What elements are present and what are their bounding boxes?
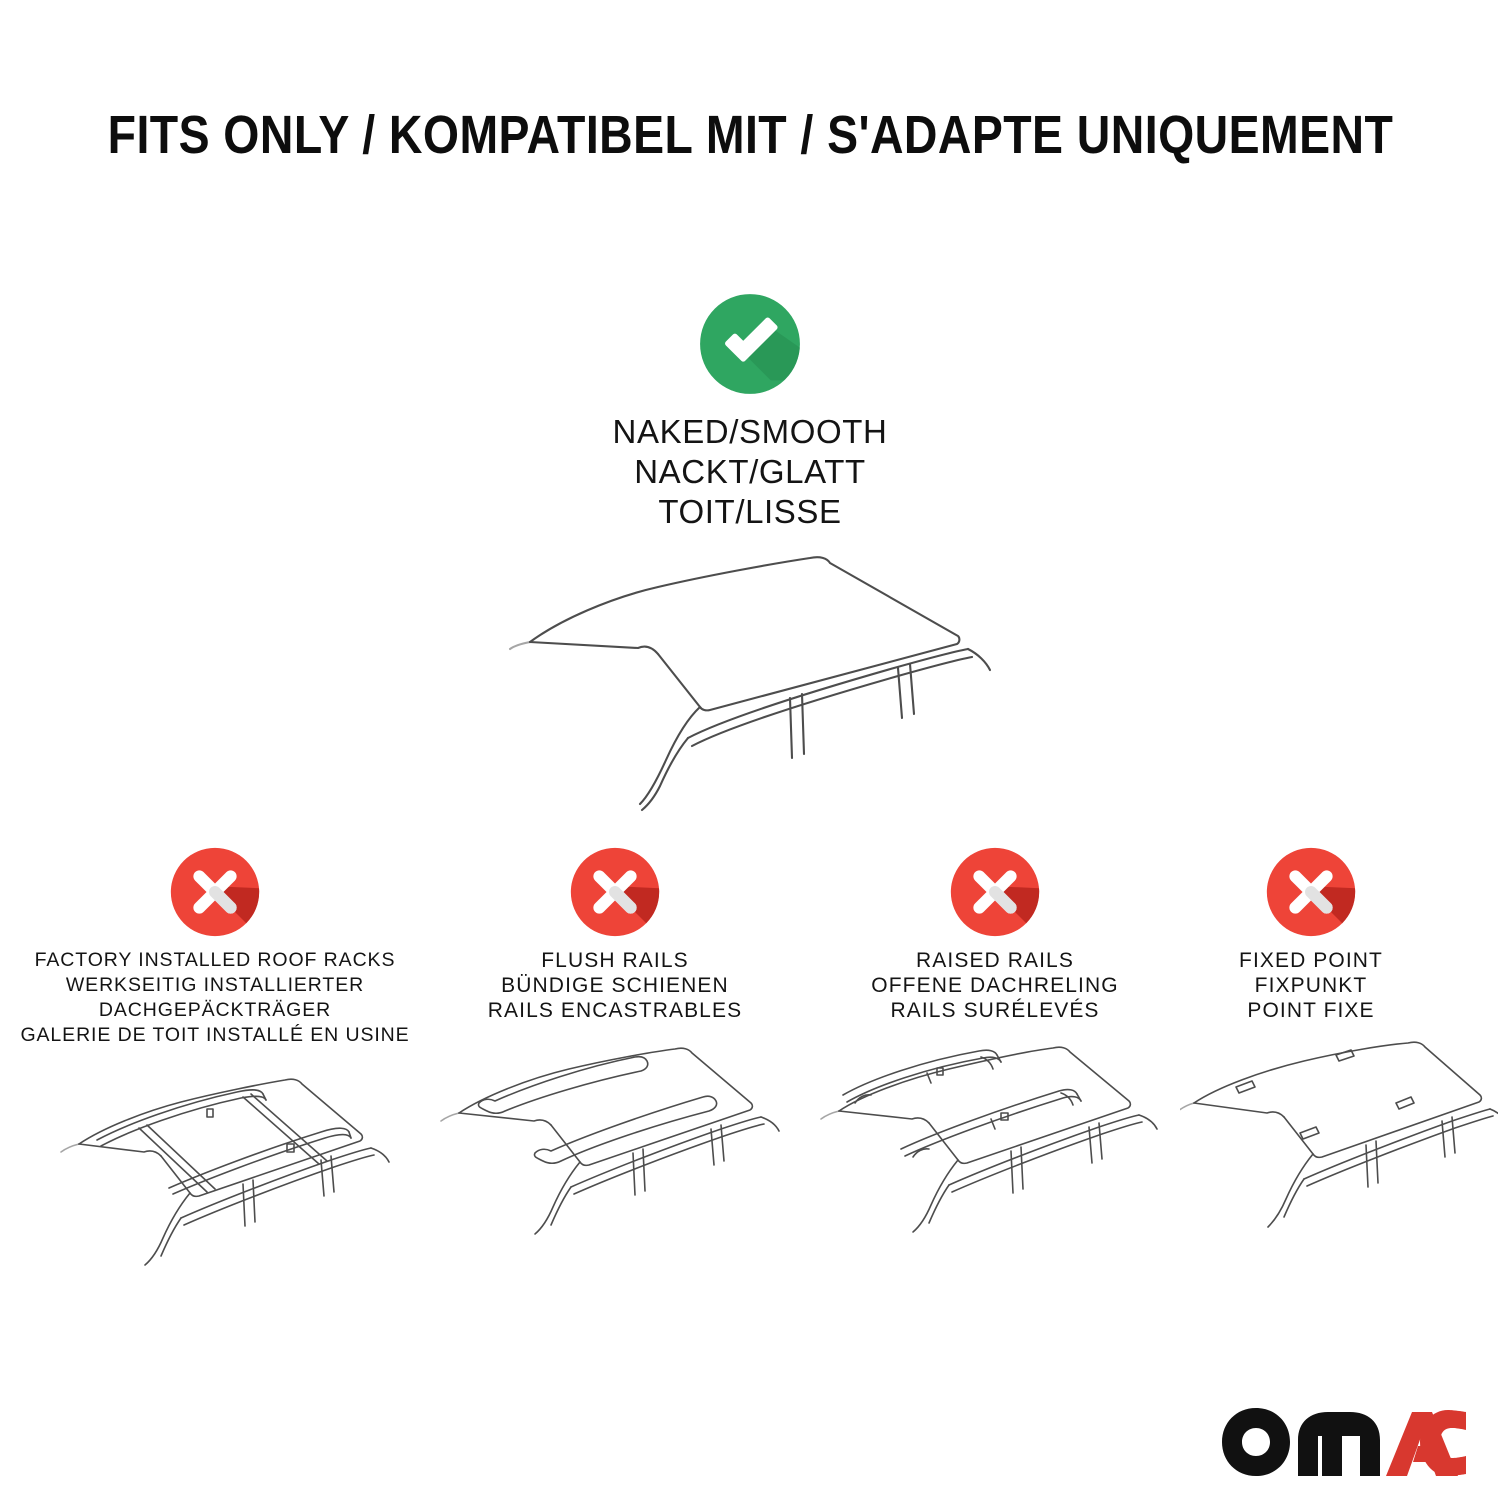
omac-logo: OMAC: [1220, 1406, 1466, 1478]
cross-circle-icon: [569, 846, 661, 938]
compatible-caption-line-2: NACKT/GLATT: [0, 452, 1500, 492]
caption-line-1: FLUSH RAILS: [432, 948, 798, 973]
flush-rails-illustration: [435, 1041, 795, 1241]
factory-roof-rack-illustration: [31, 1066, 399, 1266]
compatible-caption-line-1: NAKED/SMOOTH: [0, 412, 1500, 452]
caption-line-3: RAILS ENCASTRABLES: [432, 998, 798, 1023]
incompatible-section: FACTORY INSTALLED ROOF RACKS WERKSEITIG …: [0, 846, 1500, 1276]
page-title: FITS ONLY / KOMPATIBEL MIT / S'ADAPTE UN…: [107, 104, 1393, 166]
incompatible-caption-raised-rails: RAISED RAILS OFFENE DACHRELING RAILS SUR…: [812, 948, 1178, 1023]
caption-line-3: DACHGEPÄCKTRÄGER: [20, 998, 410, 1023]
incompatible-caption-factory-installed-roof-racks: FACTORY INSTALLED ROOF RACKS WERKSEITIG …: [20, 948, 410, 1048]
cross-circle-icon: [1265, 846, 1357, 938]
fixed-point-illustration: [1180, 1041, 1498, 1241]
caption-line-3: POINT FIXE: [1180, 998, 1442, 1023]
incompatible-item-fixed-point: FIXED POINT FIXPUNKT POINT FIXE: [1180, 846, 1442, 1241]
compatible-caption-line-3: TOIT/LISSE: [0, 492, 1500, 532]
incompatible-item-flush-rails: FLUSH RAILS BÜNDIGE SCHIENEN RAILS ENCAS…: [432, 846, 798, 1241]
check-circle-icon: [698, 292, 802, 396]
caption-line-2: OFFENE DACHRELING: [812, 973, 1178, 998]
omac-logo-mark: [1220, 1406, 1466, 1478]
page-title-bar: FITS ONLY / KOMPATIBEL MIT / S'ADAPTE UN…: [0, 104, 1500, 166]
caption-line-2: FIXPUNKT: [1180, 973, 1442, 998]
caption-line-4: GALERIE DE TOIT INSTALLÉ EN USINE: [20, 1023, 410, 1048]
caption-line-2: BÜNDIGE SCHIENEN: [432, 973, 798, 998]
caption-line-1: FIXED POINT: [1180, 948, 1442, 973]
caption-line-1: FACTORY INSTALLED ROOF RACKS: [20, 948, 410, 973]
raised-rails-illustration: [815, 1041, 1175, 1241]
compatible-caption: NAKED/SMOOTH NACKT/GLATT TOIT/LISSE: [0, 412, 1500, 532]
cross-circle-icon: [169, 846, 261, 938]
compatible-section: NAKED/SMOOTH NACKT/GLATT TOIT/LISSE: [0, 292, 1500, 812]
incompatible-caption-flush-rails: FLUSH RAILS BÜNDIGE SCHIENEN RAILS ENCAS…: [432, 948, 798, 1023]
caption-line-2: WERKSEITIG INSTALLIERTER: [20, 973, 410, 998]
incompatible-item-raised-rails: RAISED RAILS OFFENE DACHRELING RAILS SUR…: [812, 846, 1178, 1241]
caption-line-1: RAISED RAILS: [812, 948, 1178, 973]
naked-smooth-roof-illustration: [490, 542, 1010, 812]
incompatible-caption-fixed-point: FIXED POINT FIXPUNKT POINT FIXE: [1180, 948, 1442, 1023]
caption-line-3: RAILS SURÉLEVÉS: [812, 998, 1178, 1023]
incompatible-item-factory-installed-roof-racks: FACTORY INSTALLED ROOF RACKS WERKSEITIG …: [20, 846, 410, 1266]
cross-circle-icon: [949, 846, 1041, 938]
